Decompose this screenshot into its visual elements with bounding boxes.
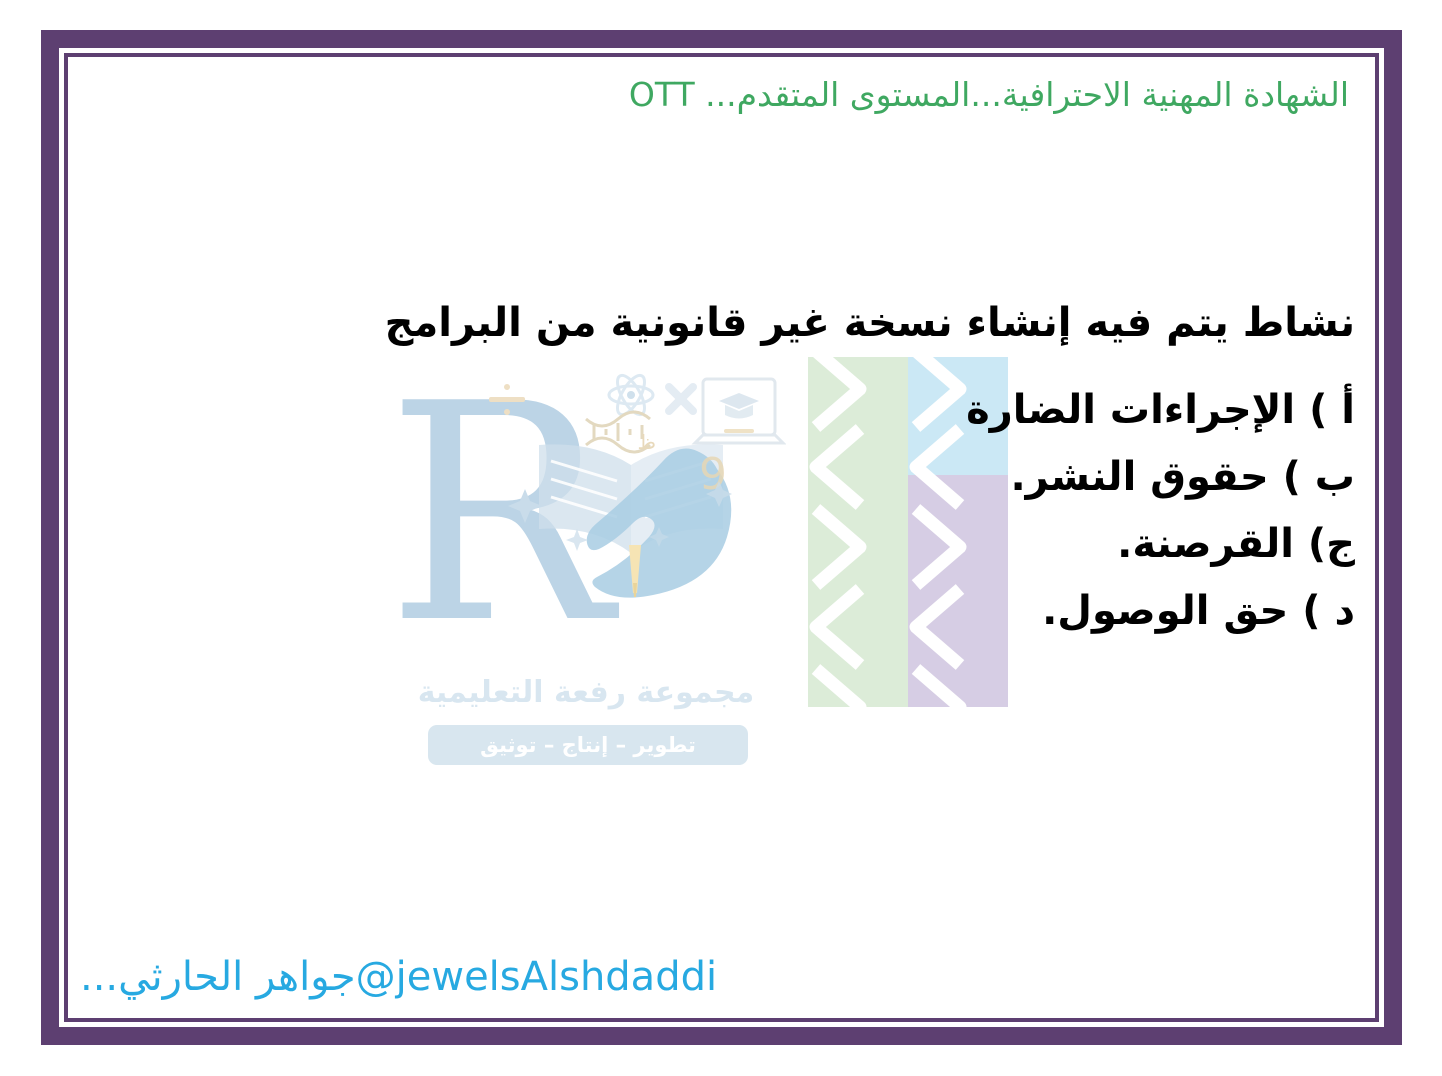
author-arabic-name: جواهر الحارثي... (80, 954, 356, 1000)
question-text: نشاط يتم فيه إنشاء نسخة غير قانونية من ا… (105, 300, 1355, 346)
slide-content-area: الشهادة المهنية الاحترافية...المستوى الم… (68, 57, 1375, 1018)
author-handle: @jewelsAlshdaddi (356, 954, 717, 1000)
course-header-title: الشهادة المهنية الاحترافية...المستوى الم… (109, 75, 1349, 114)
answer-option-a[interactable]: أ ) الإجراءات الضارة (105, 377, 1355, 444)
author-credit: @jewelsAlshdaddiجواهر الحارثي... (80, 954, 880, 1000)
watermark-tagline: تطوير – إنتاج – توثيق (428, 725, 748, 765)
answer-option-c[interactable]: ج) القرصنة. (105, 511, 1355, 578)
answer-option-d[interactable]: د ) حق الوصول. (105, 578, 1355, 645)
slide-canvas: الشهادة المهنية الاحترافية...المستوى الم… (0, 0, 1442, 1076)
answer-option-b[interactable]: ب ) حقوق النشر. (105, 444, 1355, 511)
answer-options-list: أ ) الإجراءات الضارة ب ) حقوق النشر. ج) … (105, 377, 1355, 645)
watermark-organization-name: مجموعة رفعة التعليمية (376, 675, 796, 710)
